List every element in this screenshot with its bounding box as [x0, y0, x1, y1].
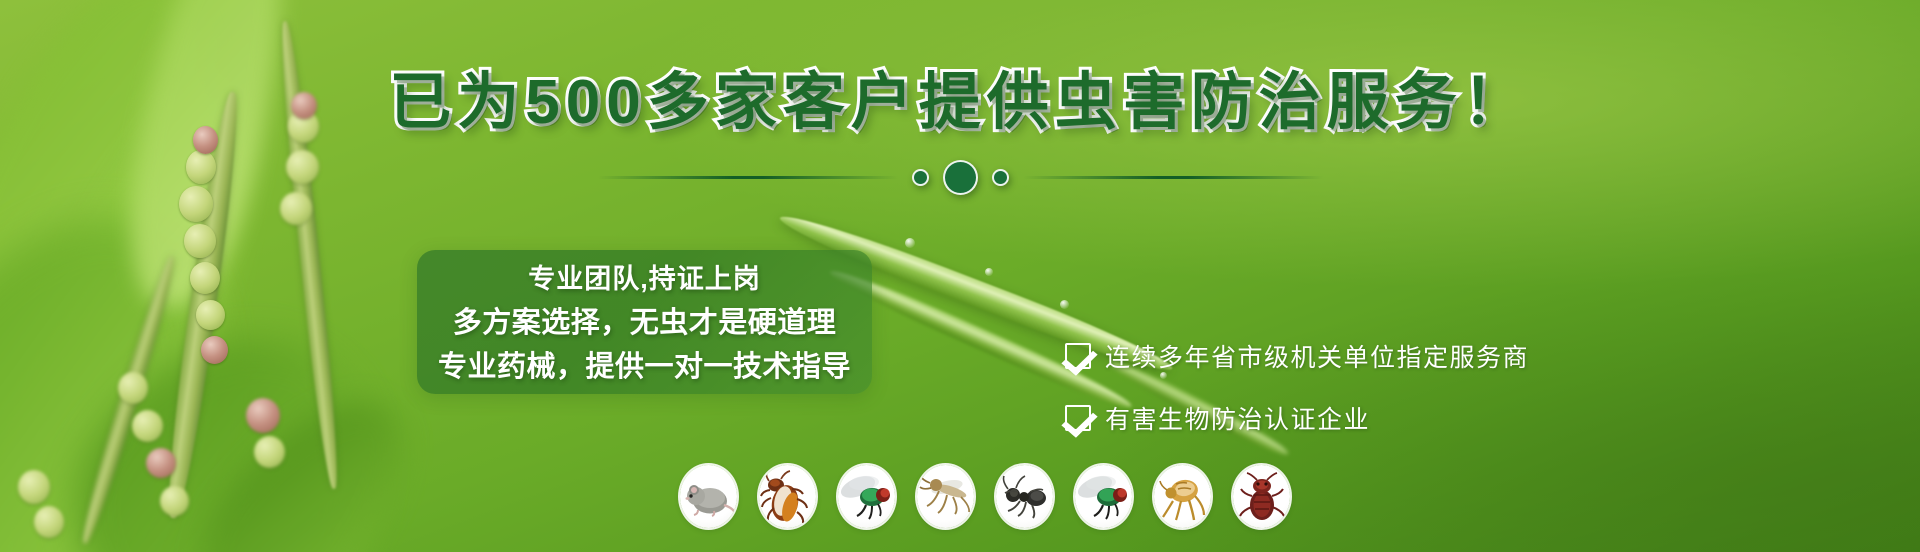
leaf-blade	[107, 0, 314, 318]
checkbox-checked-icon	[1065, 343, 1091, 369]
credentials-list: 连续多年省市级机关单位指定服务商 有害生物防治认证企业	[1065, 338, 1529, 436]
divider	[0, 160, 1920, 195]
dew-drop	[985, 268, 993, 276]
banner-headline: 已为500多家客户提供虫害防治服务！	[0, 72, 1920, 134]
credential-item: 有害生物防治认证企业	[1065, 400, 1529, 436]
flower-bud	[190, 262, 220, 294]
mouse-icon[interactable]	[680, 465, 737, 528]
flower-bud	[118, 372, 148, 404]
divider-rule-left	[598, 176, 898, 179]
flower-bud	[160, 486, 189, 516]
claim-line-2: 多方案选择，无虫才是硬道理	[453, 304, 837, 342]
pest-icon-row	[680, 465, 1290, 528]
flower-bud	[34, 506, 64, 538]
flower-bud	[146, 448, 176, 478]
leaf-blade	[168, 365, 442, 552]
dew-drop	[1060, 300, 1069, 309]
flea-icon[interactable]	[1154, 465, 1211, 528]
bedbug-icon[interactable]	[1233, 465, 1290, 528]
flower-bud	[201, 336, 228, 364]
flower-bud	[246, 398, 280, 433]
flower-bud	[184, 224, 216, 258]
credential-item: 连续多年省市级机关单位指定服务商	[1065, 338, 1529, 374]
cockroach-icon[interactable]	[759, 465, 816, 528]
flower-bud	[280, 192, 312, 225]
flower-bud	[132, 410, 163, 442]
plant-stem	[77, 254, 181, 546]
divider-dot-small-right	[992, 169, 1009, 186]
leaf-blade	[0, 154, 297, 552]
divider-rule-right	[1023, 176, 1323, 179]
flower-bud	[18, 470, 50, 504]
mosquito-icon[interactable]	[917, 465, 974, 528]
plant-stem	[160, 90, 246, 519]
fly-icon[interactable]	[838, 465, 895, 528]
credential-label: 有害生物防治认证企业	[1105, 400, 1370, 436]
ant-icon[interactable]	[996, 465, 1053, 528]
credential-label: 连续多年省市级机关单位指定服务商	[1105, 338, 1529, 374]
flower-bud	[196, 300, 225, 330]
checkbox-checked-icon	[1065, 405, 1091, 431]
claim-line-3: 专业药械，提供一对一技术指导	[438, 348, 851, 386]
claim-line-1: 专业团队,持证上岗	[528, 262, 761, 298]
leaf-blade	[24, 279, 435, 552]
flower-bud	[254, 436, 285, 468]
claims-panel-text: 专业团队,持证上岗 多方案选择，无虫才是硬道理 专业药械，提供一对一技术指导	[417, 262, 872, 386]
blowfly-icon[interactable]	[1075, 465, 1132, 528]
divider-dot-large	[943, 160, 978, 195]
divider-dot-small-left	[912, 169, 929, 186]
promo-banner: 已为500多家客户提供虫害防治服务！ 专业团队,持证上岗 多方案选择，无虫才是硬…	[0, 0, 1920, 552]
dew-drop	[905, 238, 915, 248]
